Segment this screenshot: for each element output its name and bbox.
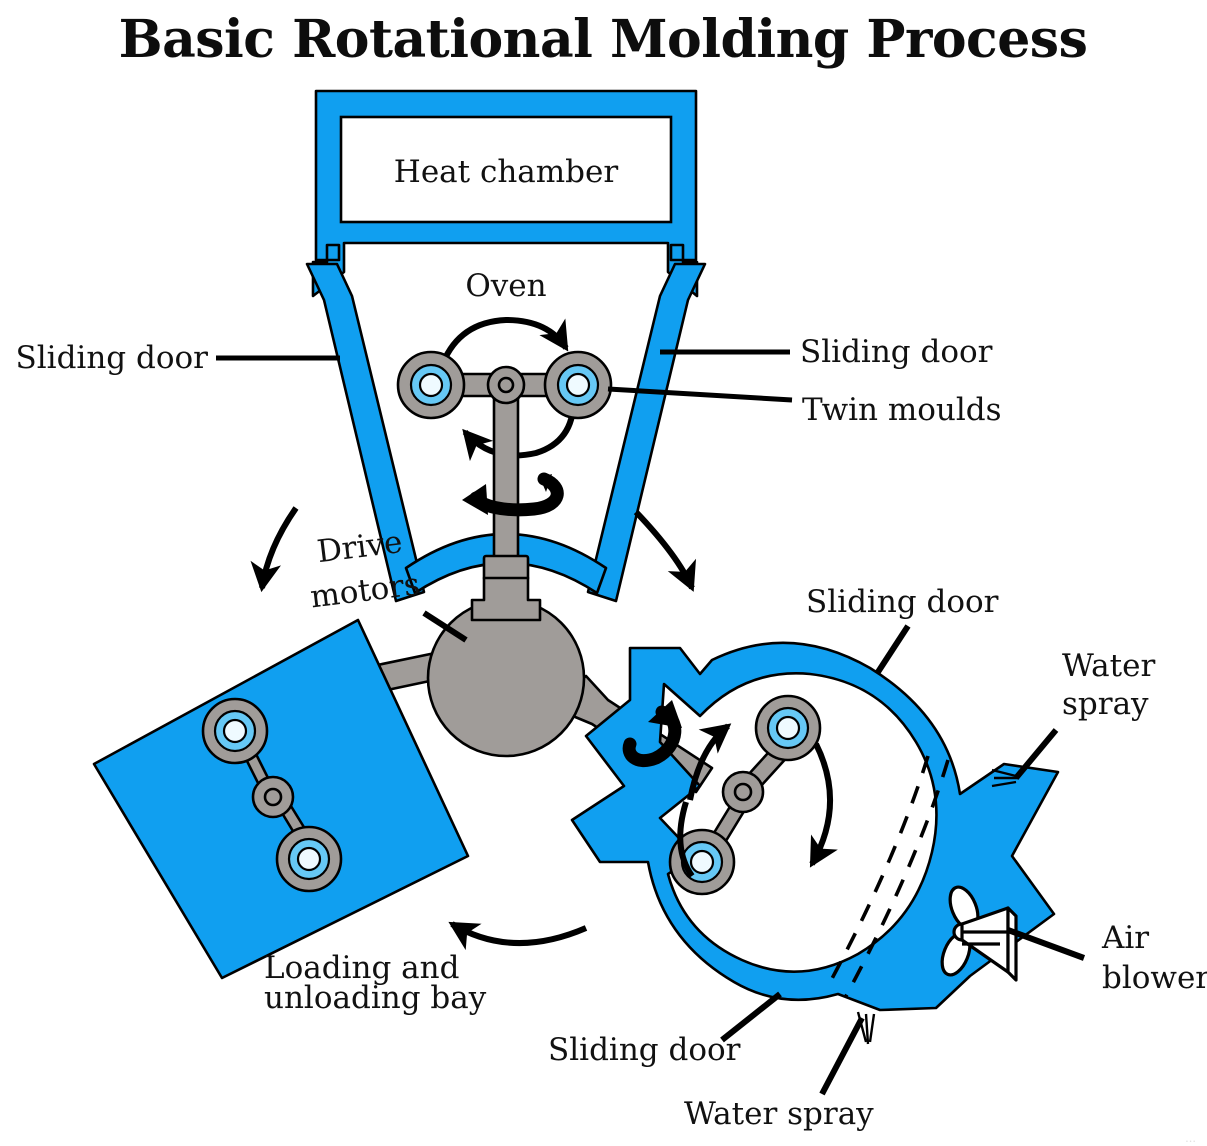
label-water-spray-bottom: Water spray bbox=[684, 1096, 874, 1132]
oven-label: Oven bbox=[465, 268, 546, 304]
blower-housing-side bbox=[1008, 908, 1016, 980]
oven-mould-right bbox=[545, 352, 611, 418]
loading-mould-pivot-hole bbox=[265, 789, 281, 805]
label-cooling-door-bottom: Sliding door bbox=[548, 1032, 741, 1068]
heat-chamber-label: Heat chamber bbox=[394, 154, 619, 190]
label-twin-moulds: Twin moulds bbox=[802, 392, 1002, 428]
label-loading-bay-line2: unloading bay bbox=[264, 980, 487, 1016]
hub-disc bbox=[428, 600, 584, 756]
loading-mould-upper bbox=[203, 699, 267, 763]
label-sliding-door-left: Sliding door bbox=[16, 340, 209, 376]
cooling-mould-pivot-hole bbox=[735, 784, 751, 800]
label-sliding-door-right: Sliding door bbox=[800, 334, 993, 370]
label-cooling-door-top: Sliding door bbox=[806, 584, 999, 620]
page-title: Basic Rotational Molding Process bbox=[119, 9, 1088, 70]
watermark: ... bbox=[1185, 1130, 1196, 1145]
cooling-mould-upper bbox=[756, 696, 820, 760]
loading-mould-lower bbox=[277, 827, 341, 891]
oven-crossbar-pivot-hole bbox=[499, 378, 513, 392]
oven-spindle-shaft bbox=[494, 388, 518, 568]
oven-mould-left bbox=[398, 352, 464, 418]
diagram-canvas: Basic Rotational Molding Process Heat ch… bbox=[0, 0, 1207, 1146]
oven-spindle-collar bbox=[484, 556, 528, 580]
